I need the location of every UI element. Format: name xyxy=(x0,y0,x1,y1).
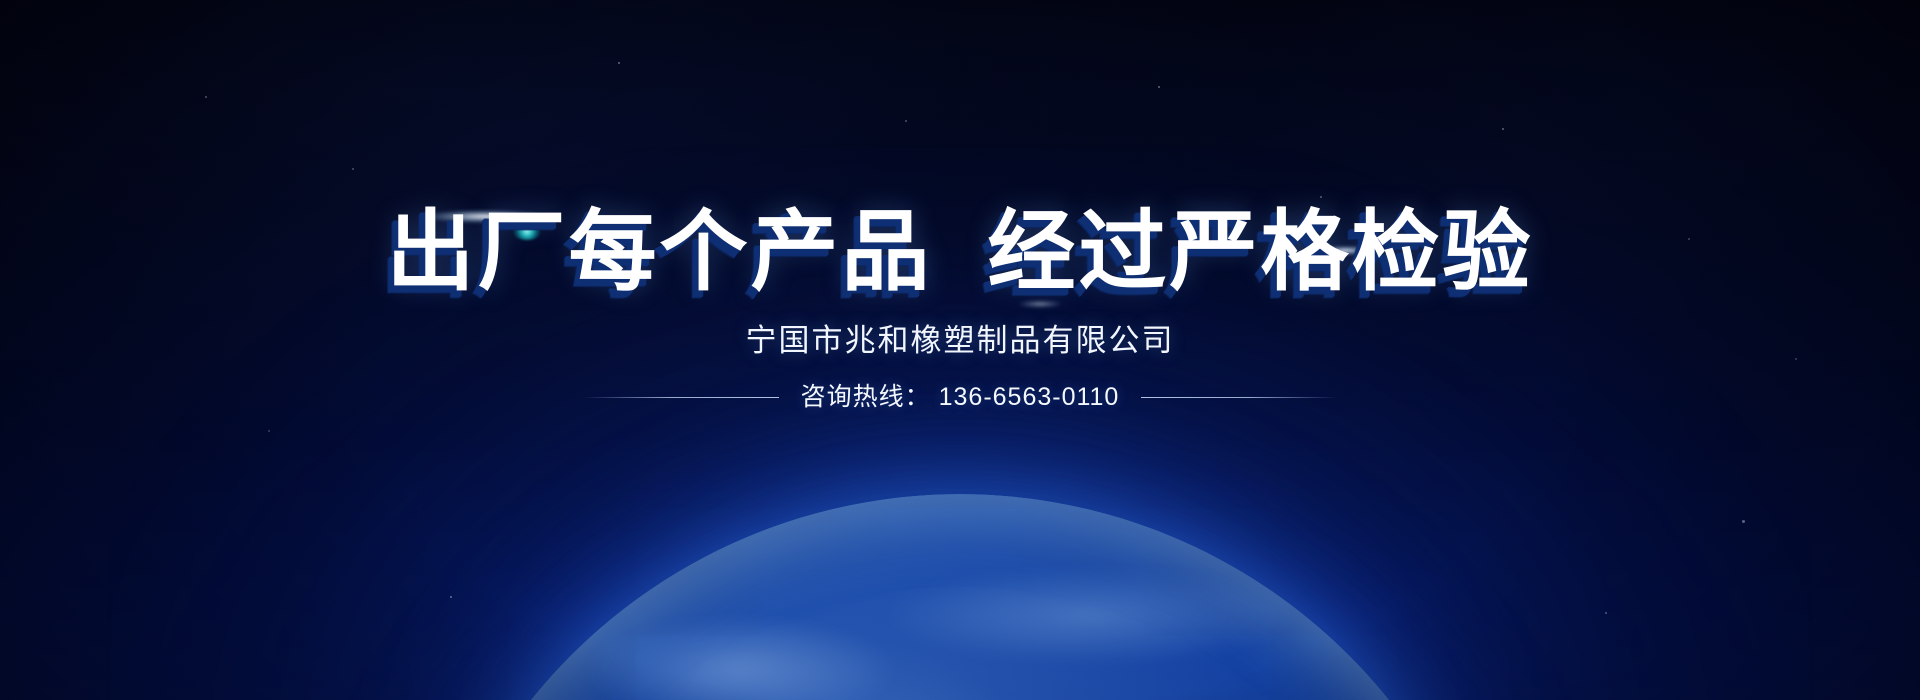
promotional-banner: 出厂每个产品 经过严格检验 宁国市兆和橡塑制品有限公司 咨询热线： 136-65… xyxy=(0,0,1920,700)
banner-content: 出厂每个产品 经过严格检验 宁国市兆和橡塑制品有限公司 咨询热线： 136-65… xyxy=(0,0,1920,700)
hotline-text[interactable]: 咨询热线： 136-6563-0110 xyxy=(801,385,1120,410)
hotline-row: 咨询热线： 136-6563-0110 xyxy=(0,385,1920,410)
page-title: 出厂每个产品 经过严格检验 xyxy=(0,208,1920,296)
divider-right xyxy=(1141,397,1337,398)
divider-left xyxy=(583,397,779,398)
company-name: 宁国市兆和橡塑制品有限公司 xyxy=(0,325,1920,356)
